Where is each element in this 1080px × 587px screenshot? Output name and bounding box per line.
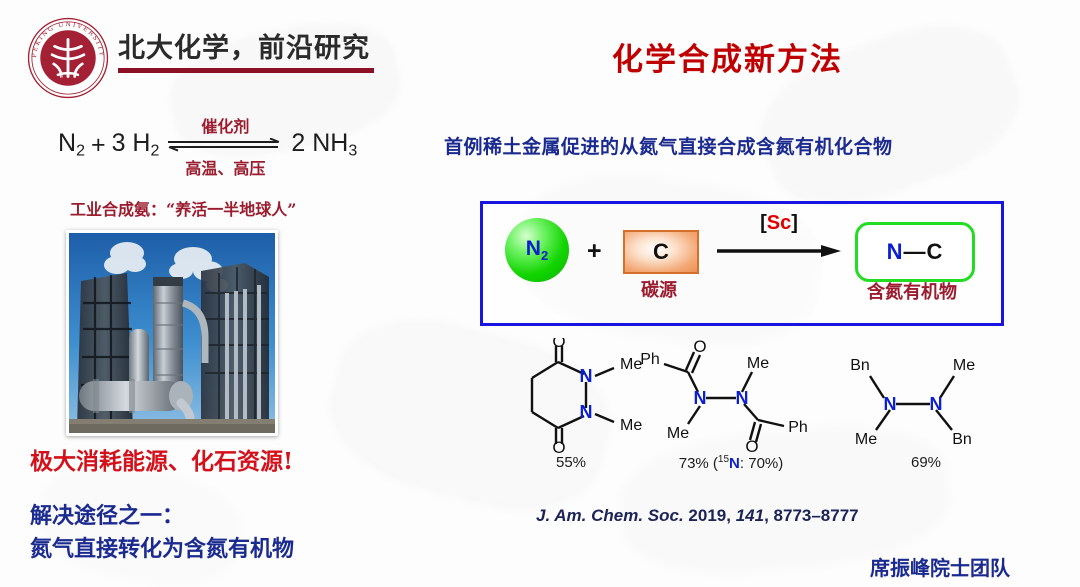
carbon-box-label: C [653,239,669,265]
equilibrium-arrow-group: 催化剂 高温、高压 [166,118,284,172]
citation-year: 2019 [688,506,726,525]
svg-text:Me: Me [953,357,975,374]
catalyst-label: [Sc] [719,212,839,235]
svg-text:Bn: Bn [952,431,972,448]
structure-2-yield: 73% (15N: 70%) [636,454,826,472]
reaction-scheme-box: N2 + C 碳源 [Sc] N—C 含氮有机物 [480,201,1004,326]
n2-molecule-ball: N2 [505,218,569,282]
carbon-source-label: 碳源 [623,276,695,302]
isotope-superscript: 15 [718,454,729,465]
svg-text:N: N [580,366,593,386]
slide-root: PEKING UNIVERSITY 1 8 9 8 北大化学，前沿研究 N2 +… [0,0,1080,587]
product-label: 含氮有机物 [841,278,983,304]
yield-prefix: 73% ( [679,455,718,472]
arrow-above-label: 催化剂 [201,113,249,137]
citation-volume: 141 [736,506,764,525]
citation: J. Am. Chem. Soc. 2019, 141, 8773–8777 [536,506,859,526]
svg-text:N: N [580,402,593,422]
svg-text:N: N [884,394,897,414]
scheme-plus-sign: + [587,237,602,266]
equation-plus: + [91,131,106,160]
reaction-arrow-icon [715,244,843,258]
equation-n2: N2 [58,129,85,160]
carbon-source-box: C [623,230,699,274]
equilibrium-arrow-icon [166,138,284,152]
product-box-label: N—C [887,239,944,265]
svg-text:O: O [552,338,565,351]
structure-1: O O N N Me Me [496,338,646,456]
haber-bosch-equation: N2 + 3 H2 催化剂 高温、高压 2 NH3 [58,118,357,172]
structure-2: Ph O N N Me Me O Ph [626,340,826,456]
industry-note: 工业合成氨：“养活一半地球人” [70,196,296,220]
svg-text:Bn: Bn [850,357,870,374]
solution-heading: 解决途径之一： [30,498,184,530]
isotope-n: N [729,455,740,472]
n2-ball-label: N2 [526,237,548,263]
svg-text:Ph: Ph [640,351,660,368]
arrow-below-label: 高温、高压 [185,155,265,179]
n-containing-product-box: N—C [855,222,975,282]
product-structures-group: O O N N Me Me 55% [486,338,1046,488]
catalyst-symbol: Sc [767,212,791,234]
svg-text:O: O [693,340,706,356]
svg-text:N: N [694,388,707,408]
svg-text:Me: Me [747,355,769,372]
svg-text:N: N [736,388,749,408]
header-title: 北大化学，前沿研究 [118,26,370,65]
structure-1-yield: 55% [516,454,626,471]
svg-text:Ph: Ph [788,419,808,436]
subtitle: 首例稀土金属促进的从氮气直接合成含氮有机化合物 [444,132,893,159]
peking-university-logo-icon: PEKING UNIVERSITY 1 8 9 8 [26,16,110,100]
team-attribution: 席振峰院士团队 [870,552,1010,581]
svg-text:Me: Me [667,425,689,442]
main-title: 化学合成新方法 [612,34,843,79]
structure-3-yield: 69% [856,454,996,471]
equation-h2: 3 H2 [112,129,160,160]
citation-journal: J. Am. Chem. Soc. [536,506,684,525]
structure-3: N N Bn Me Me Bn [844,352,1004,456]
citation-pages: 8773–8777 [774,506,859,525]
solution-detail: 氮气直接转化为含氮有机物 [30,531,294,563]
svg-text:N: N [930,394,943,414]
ammonia-plant-photo [66,230,278,436]
header-underline-rule [118,68,374,73]
energy-warning-text: 极大消耗能源、化石资源! [30,442,293,476]
yield-suffix: : 70%) [740,455,783,472]
svg-text:Me: Me [855,431,877,448]
equation-nh3: 2 NH3 [291,129,357,160]
